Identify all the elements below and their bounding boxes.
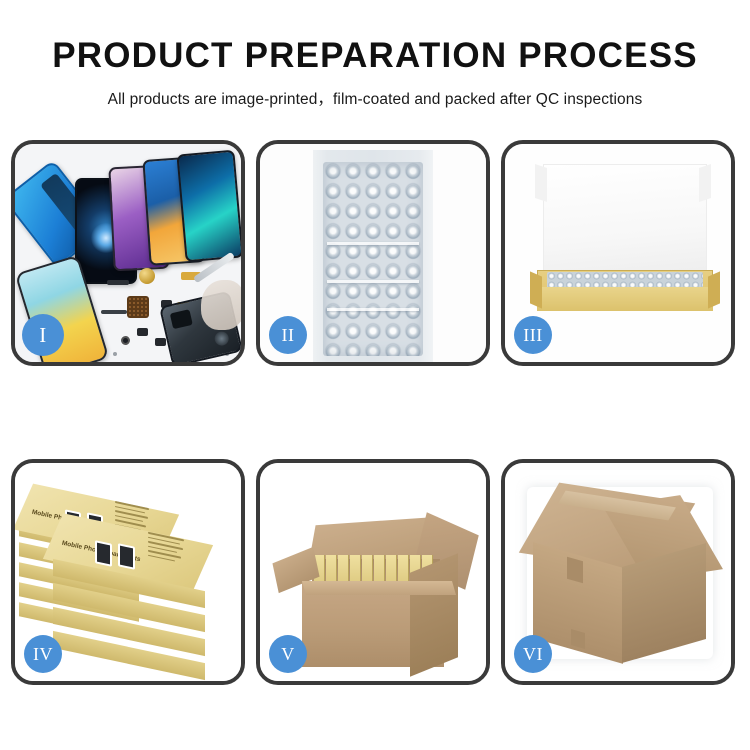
step-badge-4: IV — [24, 635, 62, 673]
page-title: PRODUCT PREPARATION PROCESS — [0, 38, 750, 75]
step-panel-sealed-carton: VI — [501, 459, 735, 685]
header: PRODUCT PREPARATION PROCESS All products… — [0, 0, 750, 109]
step-panel-product-parts: I — [11, 140, 245, 366]
step-panel-boxed-stack: Mobile Phone Spare Parts Mobile Phone Sp… — [11, 459, 245, 685]
step-badge-1: I — [22, 314, 64, 356]
boxed-stack-illustration: Mobile Phone Spare Parts Mobile Phone Sp… — [15, 463, 241, 681]
step-panel-bubble-wrap: II — [256, 140, 490, 366]
product-preparation-infographic: PRODUCT PREPARATION PROCESS All products… — [0, 0, 750, 750]
page-subtitle: All products are image-printed，film-coat… — [0, 87, 750, 109]
process-step-grid: I II — [11, 140, 739, 685]
open-carton-illustration: V — [260, 463, 486, 681]
box-lid-icon — [543, 164, 707, 284]
step-panel-open-carton: V — [256, 459, 490, 685]
step-badge-3: III — [514, 316, 552, 354]
product-parts-illustration: I — [15, 144, 241, 362]
step-badge-5: V — [269, 635, 307, 673]
step-badge-6: VI — [514, 635, 552, 673]
bubble-wrap-illustration: II — [260, 144, 486, 362]
sealed-carton-illustration: VI — [505, 463, 731, 681]
step-badge-2: II — [269, 316, 307, 354]
step-panel-inner-box: III — [501, 140, 735, 366]
carton-flap-front-icon — [302, 581, 456, 595]
bubble-wrap-sheet-icon — [313, 150, 433, 362]
hand-icon — [201, 280, 241, 330]
phone-screen-teal-icon — [176, 150, 241, 263]
inner-box-illustration: III — [505, 144, 731, 362]
